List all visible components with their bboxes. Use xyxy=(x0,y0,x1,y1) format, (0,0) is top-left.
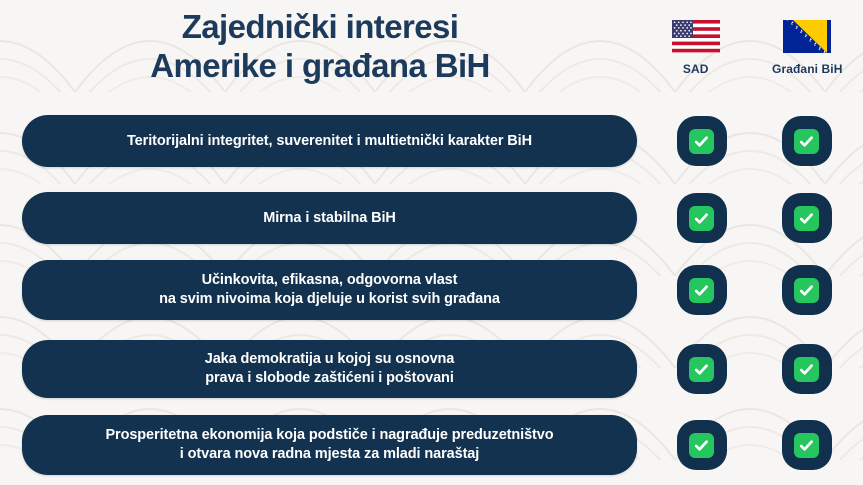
check-cell-gradani-bih xyxy=(754,420,859,470)
check-cells xyxy=(649,265,859,315)
check-cell-sad xyxy=(649,193,754,243)
header: Zajednički interesi Amerike i građana Bi… xyxy=(0,0,863,108)
interest-label: Prosperitetna ekonomija koja podstiče i … xyxy=(87,426,571,464)
interest-label: Jaka demokratija u kojoj su osnovna prav… xyxy=(187,350,473,388)
interest-row: Jaka demokratija u kojoj su osnovna prav… xyxy=(0,340,863,398)
check-badge xyxy=(782,265,832,315)
check-icon xyxy=(689,129,714,154)
check-badge xyxy=(677,193,727,243)
check-badge xyxy=(677,116,727,166)
check-icon xyxy=(689,433,714,458)
check-cell-gradani-bih xyxy=(754,116,859,166)
check-cells xyxy=(649,116,859,166)
check-badge xyxy=(782,193,832,243)
check-badge xyxy=(782,116,832,166)
column-headers: SAD xyxy=(640,20,863,105)
interest-row: Prosperitetna ekonomija koja podstiče i … xyxy=(0,415,863,475)
check-cells xyxy=(649,420,859,470)
check-icon xyxy=(689,206,714,231)
infographic-canvas: Zajednički interesi Amerike i građana Bi… xyxy=(0,0,863,485)
check-icon xyxy=(794,278,819,303)
interest-label: Mirna i stabilna BiH xyxy=(245,209,414,228)
check-cell-sad xyxy=(649,344,754,394)
column-header-label-gradani-bih: Građani BiH xyxy=(772,62,842,76)
column-header-label-sad: SAD xyxy=(683,62,709,76)
check-cells xyxy=(649,193,859,243)
interest-pill: Teritorijalni integritet, suverenitet i … xyxy=(22,115,637,167)
interest-pill: Prosperitetna ekonomija koja podstiče i … xyxy=(22,415,637,475)
check-badge xyxy=(782,344,832,394)
check-icon xyxy=(794,129,819,154)
us-flag-icon xyxy=(672,20,720,53)
check-icon xyxy=(794,357,819,382)
interest-label: Učinkovita, efikasna, odgovorna vlast na… xyxy=(141,271,518,309)
interest-row: Mirna i stabilna BiH xyxy=(0,192,863,244)
interest-pill: Mirna i stabilna BiH xyxy=(22,192,637,244)
check-icon xyxy=(689,357,714,382)
check-badge xyxy=(677,265,727,315)
check-cell-gradani-bih xyxy=(754,193,859,243)
interest-label: Teritorijalni integritet, suverenitet i … xyxy=(109,132,550,151)
check-icon xyxy=(794,433,819,458)
interest-pill: Jaka demokratija u kojoj su osnovna prav… xyxy=(22,340,637,398)
column-header-gradani-bih: Građani BiH xyxy=(752,20,863,105)
check-cell-gradani-bih xyxy=(754,265,859,315)
check-badge xyxy=(782,420,832,470)
interest-rows: Teritorijalni integritet, suverenitet i … xyxy=(0,108,863,485)
bih-flag-icon xyxy=(783,20,831,53)
check-badge xyxy=(677,344,727,394)
interest-pill: Učinkovita, efikasna, odgovorna vlast na… xyxy=(22,260,637,320)
check-icon xyxy=(794,206,819,231)
check-cells xyxy=(649,344,859,394)
interest-row: Učinkovita, efikasna, odgovorna vlast na… xyxy=(0,260,863,320)
page-title: Zajednički interesi Amerike i građana Bi… xyxy=(0,7,640,85)
check-badge xyxy=(677,420,727,470)
check-icon xyxy=(689,278,714,303)
check-cell-sad xyxy=(649,116,754,166)
column-header-sad: SAD xyxy=(640,20,752,105)
check-cell-gradani-bih xyxy=(754,344,859,394)
check-cell-sad xyxy=(649,265,754,315)
interest-row: Teritorijalni integritet, suverenitet i … xyxy=(0,115,863,167)
check-cell-sad xyxy=(649,420,754,470)
